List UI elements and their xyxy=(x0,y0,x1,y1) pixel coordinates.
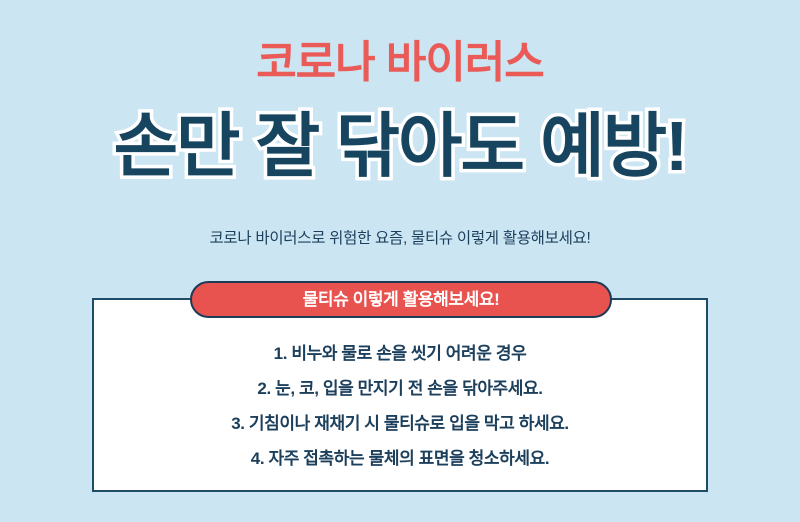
list-item: 3. 기침이나 재채기 시 물티슈로 입을 막고 하세요. xyxy=(92,406,708,441)
tips-list: 1. 비누와 물로 손을 씻기 어려운 경우 2. 눈, 코, 입을 만지기 전… xyxy=(92,336,708,476)
list-item: 1. 비누와 물로 손을 씻기 어려운 경우 xyxy=(92,336,708,371)
list-item: 2. 눈, 코, 입을 만지기 전 손을 닦아주세요. xyxy=(92,371,708,406)
subtitle-text: 코로나 바이러스로 위험한 요즘, 물티슈 이렇게 활용해보세요! xyxy=(0,226,800,248)
eyebrow-title: 코로나 바이러스 xyxy=(0,38,800,89)
page-title: 손만 잘 닦아도 예방! xyxy=(0,104,800,188)
poster-root: 코로나 바이러스 손만 잘 닦아도 예방! 코로나 바이러스로 위험한 요즘, … xyxy=(0,0,800,522)
list-item: 4. 자주 접촉하는 물체의 표면을 청소하세요. xyxy=(92,441,708,476)
panel-badge: 물티슈 이렇게 활용해보세요! xyxy=(190,281,612,318)
panel-badge-label: 물티슈 이렇게 활용해보세요! xyxy=(303,291,500,308)
